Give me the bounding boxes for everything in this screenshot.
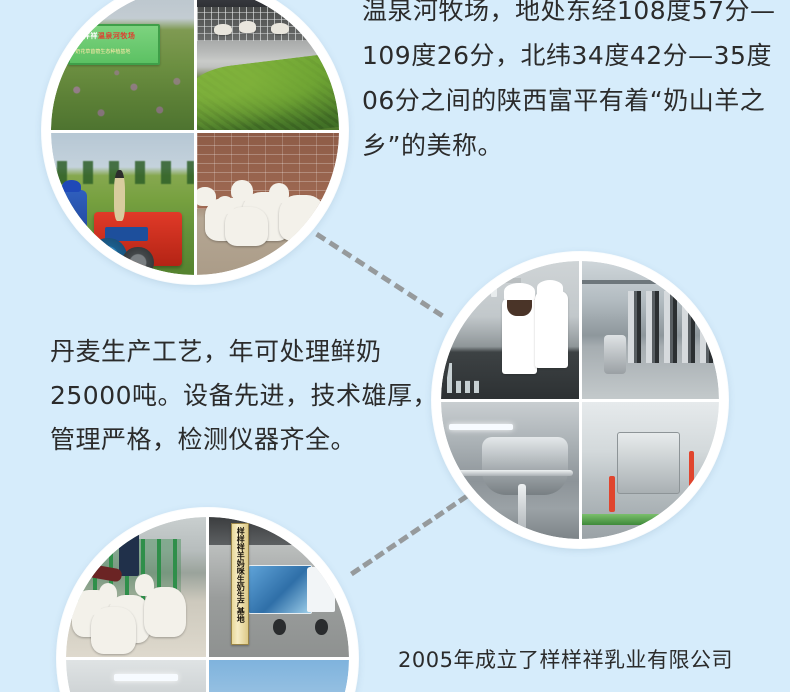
process-paragraph: 丹麦生产工艺，年可处理鲜奶25000吨。设备先进，技术雄厚，管理严格，检测仪器齐… bbox=[50, 330, 450, 462]
truck-wheel bbox=[315, 619, 328, 634]
photo-bottle-filling-production-line bbox=[582, 402, 720, 540]
photo-farmer-on-red-tiller bbox=[51, 133, 194, 276]
goat-shape bbox=[214, 24, 233, 35]
page-canvas: 样样祥温泉河牧场 奶花草苜蓿生态种植基地 bbox=[0, 0, 790, 692]
worker-figure bbox=[119, 528, 139, 576]
photo-milking-parlour-equipment bbox=[582, 261, 720, 399]
tiller-wheel bbox=[122, 247, 153, 276]
steel-support bbox=[518, 484, 526, 536]
red-pipe bbox=[689, 451, 695, 514]
photo-circle-dairy bbox=[432, 252, 728, 548]
overhead-rail bbox=[582, 280, 720, 284]
farmer-figure bbox=[61, 190, 87, 238]
glass-flasks bbox=[447, 363, 483, 393]
steel-support bbox=[455, 481, 463, 536]
red-pipe bbox=[609, 476, 615, 512]
photo-circle-goats: 样样祥羊妈咪生奶生产基地 bbox=[57, 508, 358, 692]
lab-worker bbox=[535, 291, 568, 368]
farm-sign-line1: 样样祥温泉河牧场 bbox=[75, 31, 135, 41]
photo-grid-farm: 样样祥温泉河牧场 奶花草苜蓿生态种植基地 bbox=[51, 0, 339, 275]
photo-blue-sky bbox=[209, 660, 349, 692]
photo-lab-technicians-testing-milk bbox=[441, 261, 579, 399]
photo-delivery-truck-at-loading-dock: 样样祥羊妈咪生奶生产基地 bbox=[209, 517, 349, 657]
tiller-wheel bbox=[89, 238, 126, 275]
milking-machines bbox=[628, 291, 716, 363]
goat-shape bbox=[271, 23, 290, 34]
photo-grid-dairy bbox=[441, 261, 719, 539]
goat-shape bbox=[225, 207, 268, 247]
photo-alfalfa-field-with-farm-sign: 样样祥温泉河牧场 奶花草苜蓿生态种植基地 bbox=[51, 0, 194, 130]
milk-tank bbox=[604, 335, 626, 374]
vertical-banner-text: 样样祥羊妈咪生奶生产基地 bbox=[236, 524, 244, 623]
farm-sign: 样样祥温泉河牧场 奶花草苜蓿生态种植基地 bbox=[68, 24, 160, 65]
milestone-2005: 2005年成立了样样祥乳业有限公司 bbox=[398, 636, 778, 684]
goat-shape bbox=[299, 20, 316, 31]
goat-shape bbox=[91, 607, 136, 655]
photo-milk-pipework-hall bbox=[66, 660, 206, 692]
truck-cargo-box bbox=[248, 565, 312, 615]
conveyor-belt bbox=[582, 514, 720, 525]
farm-sign-rest: 温泉河牧场 bbox=[98, 33, 136, 40]
goat-shape bbox=[239, 21, 256, 32]
lab-bottle bbox=[452, 280, 459, 297]
blue-cap bbox=[62, 180, 81, 193]
filling-machine bbox=[617, 432, 680, 495]
photo-white-goats-at-brick-wall bbox=[197, 133, 340, 276]
photo-goat-barn-with-green-hedge bbox=[197, 0, 340, 130]
photo-stainless-steel-processing-tanks bbox=[441, 402, 579, 540]
steel-pipe bbox=[447, 470, 574, 476]
worker-cap bbox=[504, 283, 534, 300]
vertical-banner: 样样祥羊妈咪生奶生产基地 bbox=[231, 523, 248, 645]
photo-circle-farm: 样样祥温泉河牧场 奶花草苜蓿生态种植基地 bbox=[42, 0, 348, 284]
truck-wheel bbox=[273, 619, 286, 634]
green-hedge bbox=[197, 52, 340, 130]
barn-roof bbox=[197, 0, 340, 7]
photo-worker-feeding-dairy-goats bbox=[66, 517, 206, 657]
farm-sign-line2: 奶花草苜蓿生态种植基地 bbox=[75, 48, 130, 55]
goat-shape bbox=[144, 587, 186, 637]
lab-bottle bbox=[491, 280, 498, 297]
goat-shape bbox=[279, 195, 325, 241]
exhaust-stack bbox=[114, 170, 125, 221]
intro-paragraph: 温泉河牧场，地处东经108度57分—109度26分，北纬34度42分—35度06… bbox=[362, 0, 782, 168]
truck-cab bbox=[307, 567, 335, 612]
lab-bottle bbox=[463, 280, 470, 297]
ceiling-lamp bbox=[114, 674, 178, 681]
dock-canopy bbox=[209, 517, 349, 545]
lab-bottle bbox=[477, 282, 484, 299]
worker-cap bbox=[537, 280, 563, 295]
farm-sign-brand: 样样祥 bbox=[75, 33, 98, 40]
ceiling-lamp bbox=[449, 424, 512, 431]
photo-grid-goats: 样样祥羊妈咪生奶生产基地 bbox=[66, 517, 349, 692]
milestones-block: 2005年成立了样样祥乳业有限公司 2015年成立了样样祥牧业有限公司 bbox=[398, 588, 778, 692]
